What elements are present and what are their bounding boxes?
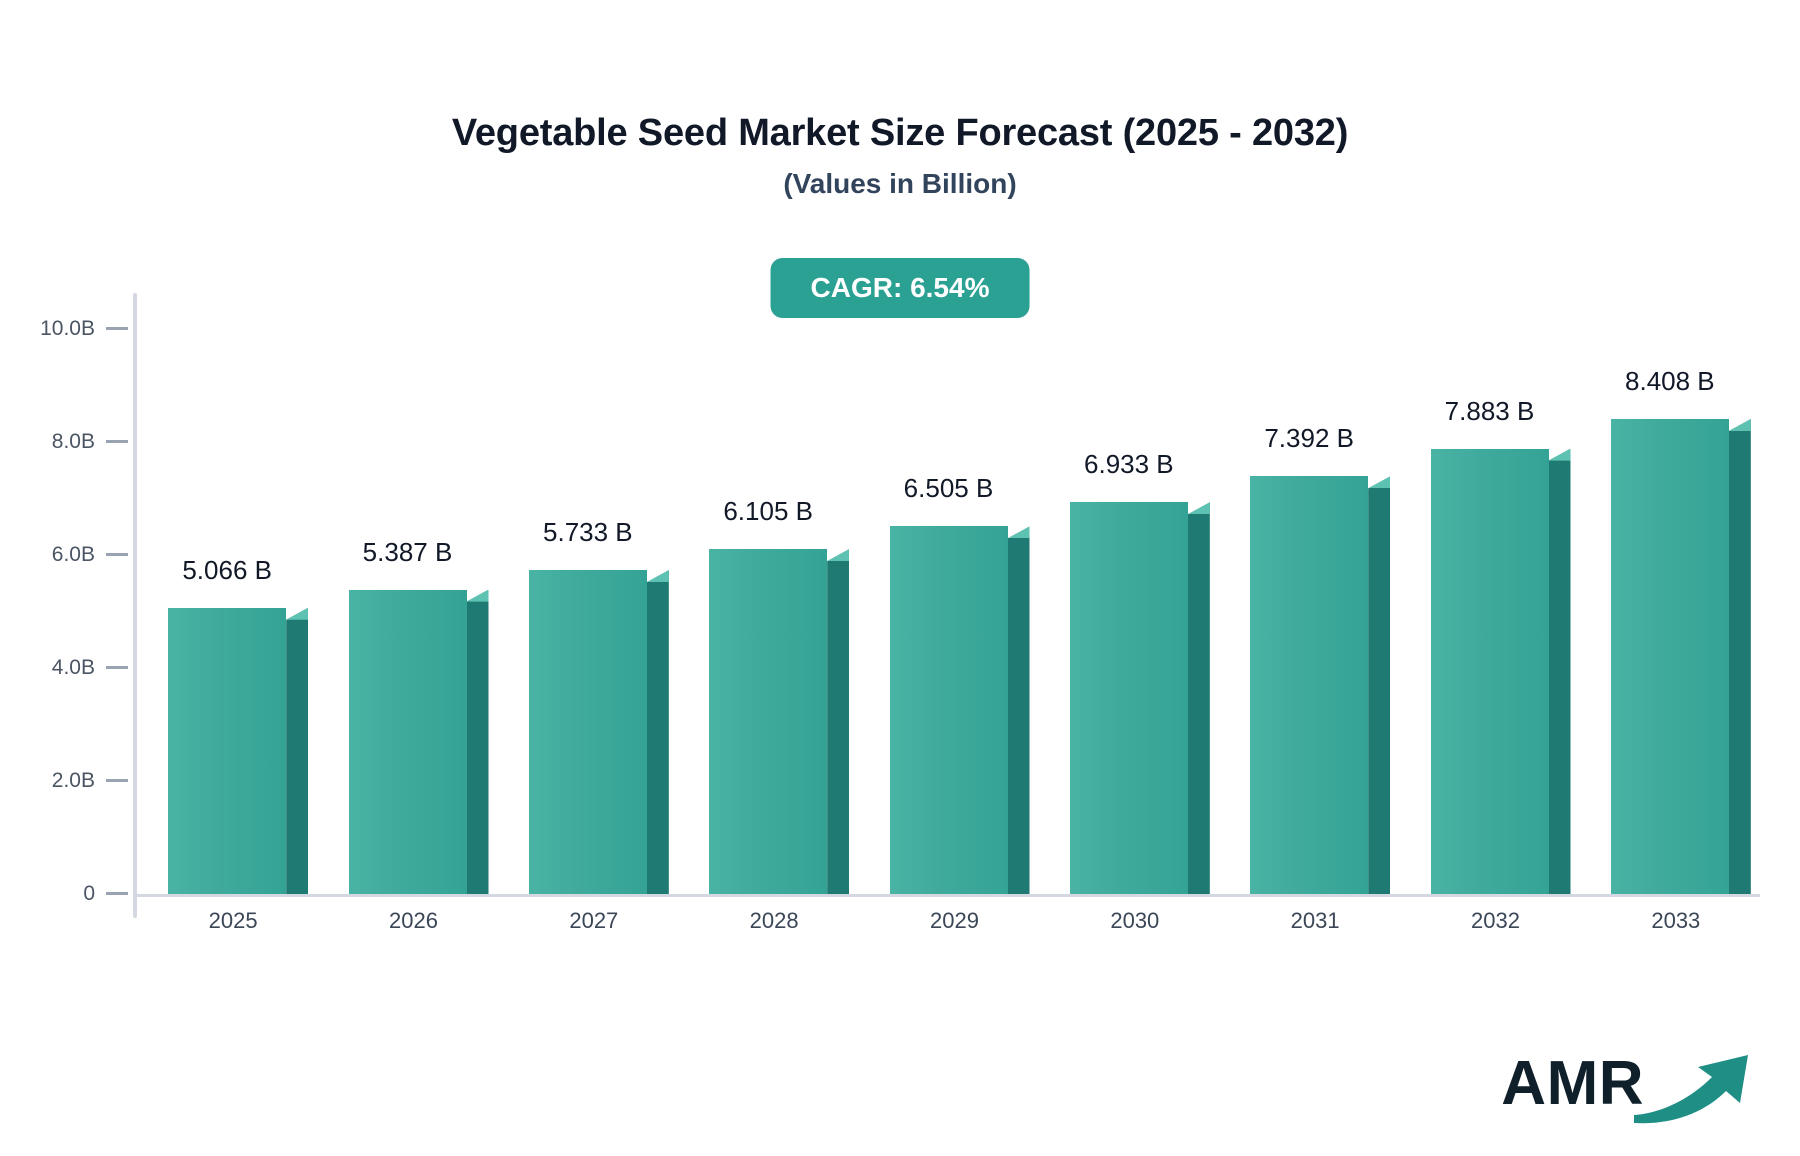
bar-face — [168, 608, 286, 894]
bar-value-label: 5.387 B — [363, 537, 453, 568]
bar-value-label: 5.066 B — [182, 555, 272, 586]
bar-2033[interactable]: 8.408 B — [1611, 419, 1729, 894]
bar-side-face — [1188, 502, 1210, 894]
bar-value-label: 8.408 B — [1625, 366, 1715, 397]
x-tick-2030: 2030 — [1110, 908, 1159, 934]
bar-2028[interactable]: 6.105 B — [709, 549, 827, 894]
bar-face — [529, 570, 647, 894]
bar-side-face — [1008, 526, 1030, 894]
bar-face — [349, 590, 467, 894]
bar-side-face — [1729, 419, 1751, 894]
bar-2030[interactable]: 6.933 B — [1070, 502, 1188, 894]
y-tick-mark — [106, 440, 128, 443]
y-tick-label: 2.0B — [52, 769, 95, 792]
x-axis-ticks: 202520262027202820292030203120322033 — [137, 908, 1760, 948]
bar-2026[interactable]: 5.387 B — [349, 590, 467, 894]
bar-top-face — [827, 549, 849, 561]
x-tick-2031: 2031 — [1291, 908, 1340, 934]
bar-face — [1431, 449, 1549, 894]
y-tick-mark — [106, 666, 128, 669]
bar-side-face — [827, 549, 849, 894]
bar-2032[interactable]: 7.883 B — [1431, 449, 1549, 894]
y-tick-label: 6.0B — [52, 543, 95, 566]
bar-face — [1250, 476, 1368, 894]
chart-canvas: Vegetable Seed Market Size Forecast (202… — [0, 0, 1800, 1156]
bar-top-face — [286, 608, 308, 620]
x-tick-2028: 2028 — [750, 908, 799, 934]
y-tick-8.0B: 8.0B — [0, 430, 128, 454]
y-tick-mark — [106, 779, 128, 782]
y-tick-mark — [106, 553, 128, 556]
growth-arrow-icon — [1628, 1045, 1758, 1130]
bar-side-face — [1368, 476, 1390, 894]
bar-face — [1070, 502, 1188, 894]
amr-logo: AMR — [1501, 1042, 1758, 1126]
x-tick-2029: 2029 — [930, 908, 979, 934]
bar-top-face — [1368, 476, 1390, 488]
bar-2031[interactable]: 7.392 B — [1250, 476, 1368, 894]
y-tick-label: 8.0B — [52, 430, 95, 453]
bar-top-face — [647, 570, 669, 582]
y-tick-label: 0 — [83, 882, 95, 905]
bar-value-label: 6.505 B — [904, 473, 994, 504]
bar-top-face — [1008, 526, 1030, 538]
bar-series: 5.066 B5.387 B5.733 B6.105 B6.505 B6.933… — [137, 270, 1760, 896]
x-tick-2027: 2027 — [569, 908, 618, 934]
y-tick-0: 0 — [0, 882, 128, 906]
bar-side-face — [467, 590, 489, 894]
chart-subtitle: (Values in Billion) — [0, 168, 1800, 200]
plot-area: 02.0B4.0B6.0B8.0B10.0B 5.066 B5.387 B5.7… — [0, 270, 1800, 910]
bar-value-label: 7.392 B — [1264, 423, 1354, 454]
y-tick-6.0B: 6.0B — [0, 543, 128, 567]
bar-face — [890, 526, 1008, 894]
y-tick-10.0B: 10.0B — [0, 317, 128, 341]
x-tick-2032: 2032 — [1471, 908, 1520, 934]
y-tick-mark — [106, 327, 128, 330]
y-tick-2.0B: 2.0B — [0, 769, 128, 793]
bar-face — [1611, 419, 1729, 894]
bar-side-face — [1549, 449, 1571, 894]
bar-value-label: 7.883 B — [1445, 396, 1535, 427]
y-tick-label: 4.0B — [52, 656, 95, 679]
bar-value-label: 6.933 B — [1084, 449, 1174, 480]
x-tick-2026: 2026 — [389, 908, 438, 934]
bar-value-label: 6.105 B — [723, 496, 813, 527]
y-tick-mark — [106, 892, 128, 895]
bar-2025[interactable]: 5.066 B — [168, 608, 286, 894]
bar-top-face — [1729, 419, 1751, 431]
bar-2029[interactable]: 6.505 B — [890, 526, 1008, 894]
bar-face — [709, 549, 827, 894]
bar-side-face — [286, 608, 308, 894]
y-tick-4.0B: 4.0B — [0, 656, 128, 680]
x-tick-2025: 2025 — [209, 908, 258, 934]
bar-value-label: 5.733 B — [543, 517, 633, 548]
bar-side-face — [647, 570, 669, 894]
amr-logo-text: AMR — [1501, 1053, 1644, 1115]
y-tick-label: 10.0B — [40, 317, 95, 340]
bar-2027[interactable]: 5.733 B — [529, 570, 647, 894]
chart-title: Vegetable Seed Market Size Forecast (202… — [0, 112, 1800, 155]
bar-top-face — [1549, 449, 1571, 461]
bar-top-face — [467, 590, 489, 602]
bar-top-face — [1188, 502, 1210, 514]
x-tick-2033: 2033 — [1651, 908, 1700, 934]
